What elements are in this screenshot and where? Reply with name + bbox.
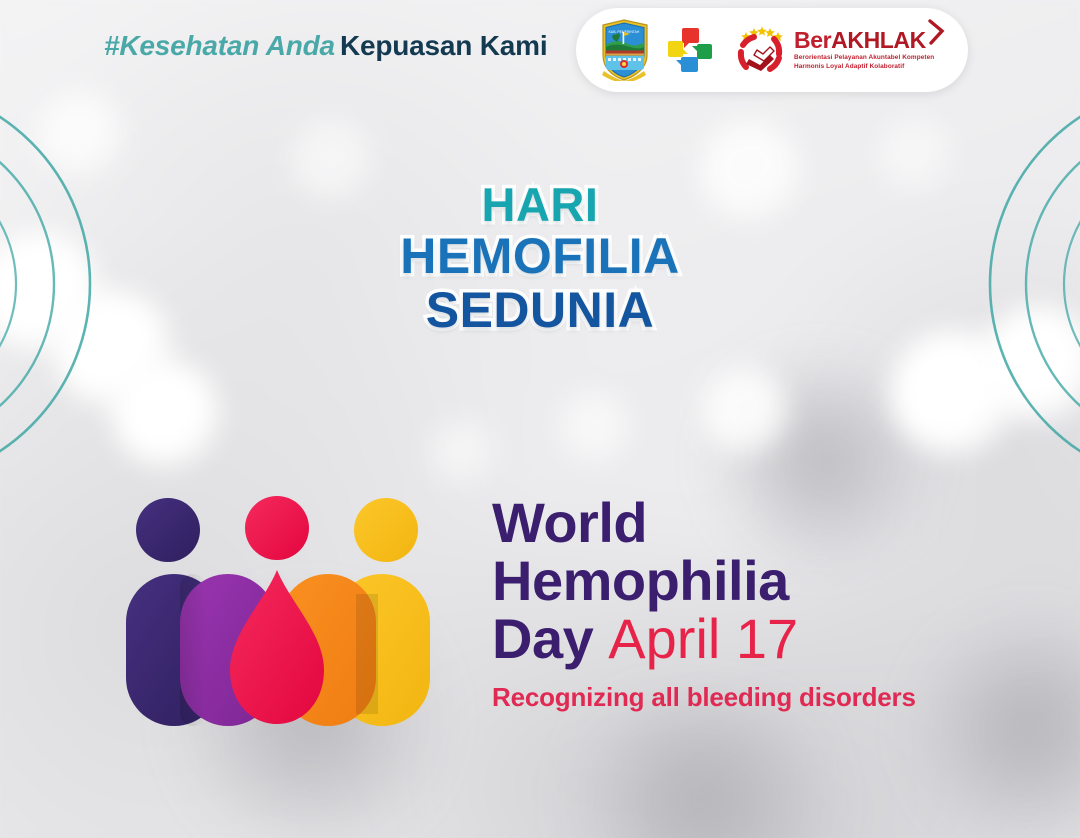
bokeh-light — [702, 368, 788, 454]
heading-line-hari: HARI — [0, 180, 1080, 230]
tagline: #Kesehatan AndaKepuasan Kami — [104, 30, 547, 62]
regency-shield-emblem: KAB. PEMERINTAH — [598, 19, 650, 81]
heading-line-sedunia: SEDUNIA — [0, 284, 1080, 338]
bokeh-light — [560, 392, 630, 462]
bokeh-light — [112, 360, 220, 468]
logo-bodies — [126, 570, 430, 726]
berakhlak-swoosh-icon — [926, 19, 946, 45]
bokeh-light — [430, 420, 494, 484]
heading-line-hemofilia: HEMOFILIA — [0, 230, 1080, 284]
main-text-block: World Hemophilia Day April 17 Recognizin… — [492, 494, 1032, 713]
poster-canvas: #Kesehatan AndaKepuasan Kami KAB. PEMERI… — [0, 0, 1080, 838]
berakhlak-prefix: Ber — [794, 27, 831, 53]
berakhlak-subtitle-line1: Berorientasi Pelayanan Akuntabel Kompete… — [794, 54, 934, 63]
berakhlak-logo: BerAKHLAK Berorientasi Pelayanan Akuntab… — [730, 21, 934, 79]
main-text-line-hemophilia: Hemophilia — [492, 552, 1032, 610]
tagline-bold: Kepuasan Kami — [340, 30, 547, 61]
tagline-hashtag: #Kesehatan Anda — [104, 30, 335, 61]
logo-head-yellow — [354, 498, 418, 562]
main-text-line-day-date: Day April 17 — [492, 610, 1032, 668]
berakhlak-suffix: AKHLAK — [831, 27, 926, 53]
logo-head-purple — [136, 498, 200, 562]
main-text-line-world: World — [492, 494, 1032, 552]
world-federation-hemophilia-logo — [112, 484, 442, 744]
logo-head-crimson — [245, 496, 309, 560]
health-pinwheel-cross-logo — [664, 24, 716, 76]
berakhlak-subtitle-line2: Harmonis Loyal Adaptif Kolaboratif — [794, 63, 934, 72]
main-text-date: April 17 — [608, 607, 798, 670]
logo-pill-container: KAB. PEMERINTAH — [576, 8, 968, 92]
main-text-day: Day — [492, 607, 593, 670]
main-text-subtitle: Recognizing all bleeding disorders — [492, 682, 1032, 713]
main-heading: HARI HEMOFILIA SEDUNIA — [0, 180, 1080, 337]
berakhlak-wordmark: BerAKHLAK — [794, 29, 934, 52]
berakhlak-icon — [730, 21, 788, 79]
bokeh-light — [38, 92, 122, 176]
